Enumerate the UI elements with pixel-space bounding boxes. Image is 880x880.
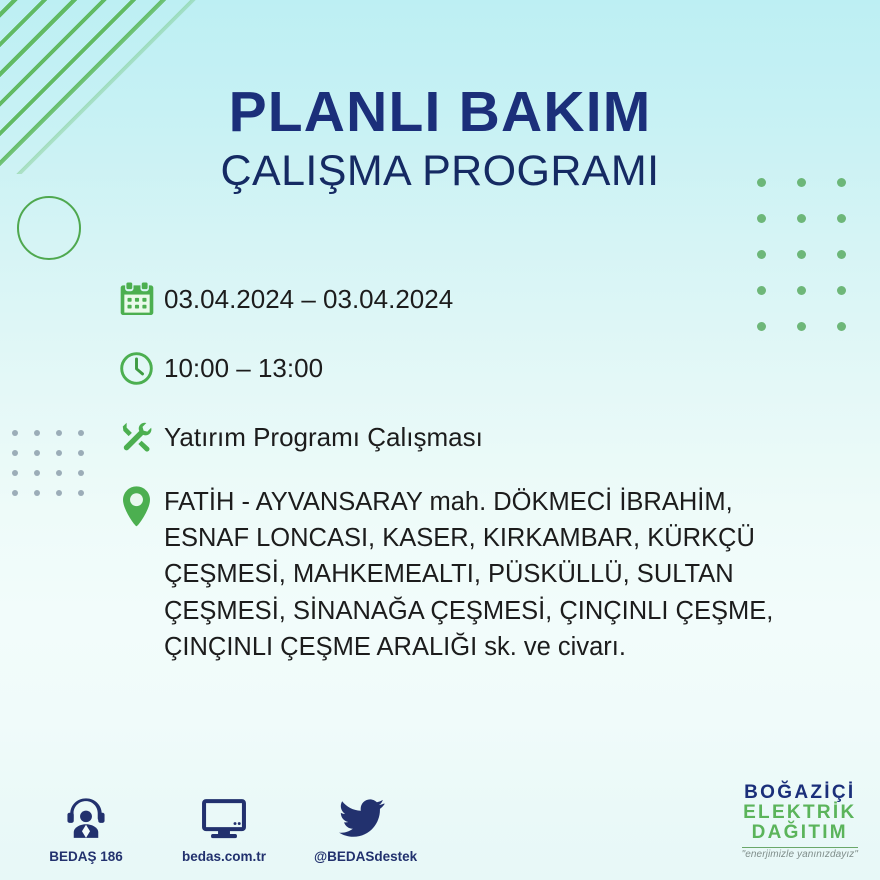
contact-twitter[interactable]: @BEDASdestek: [314, 796, 410, 864]
date-row: 03.04.2024 – 03.04.2024: [118, 276, 848, 322]
page-title: PLANLI BAKIM ÇALIŞMA PROGRAMI: [0, 84, 880, 193]
contact-website[interactable]: bedas.com.tr: [176, 796, 272, 864]
logo-line-elektrik: ELEKTRİK: [742, 803, 858, 823]
logo-tagline: "enerjimizle yanınızdayız": [742, 850, 858, 860]
time-row: 10:00 – 13:00: [118, 345, 848, 391]
logo-line-dagitim: DAĞITIM: [742, 823, 858, 843]
logo-line-bogazici: BOĞAZİÇİ: [742, 783, 858, 803]
logo-divider: [742, 847, 858, 848]
contact-website-label: bedas.com.tr: [176, 849, 272, 864]
calendar-icon: [118, 276, 164, 322]
support-agent-icon: [38, 796, 134, 840]
location-pin-icon: [118, 483, 164, 531]
clock-icon: [118, 345, 164, 391]
contact-phone-label: BEDAŞ 186: [38, 849, 134, 864]
address-value: FATİH - AYVANSARAY mah. DÖKMECİ İBRAHİM,…: [164, 483, 804, 665]
bedas-logo: BOĞAZİÇİ ELEKTRİK DAĞITIM "enerjimizle y…: [742, 783, 858, 860]
page-title-line1: PLANLI BAKIM: [0, 84, 880, 141]
twitter-bird-icon: [314, 796, 410, 840]
footer-contacts: BEDAŞ 186 bedas.com.tr @BEDASdestek: [38, 796, 410, 864]
contact-phone[interactable]: BEDAŞ 186: [38, 796, 134, 864]
address-row: FATİH - AYVANSARAY mah. DÖKMECİ İBRAHİM,…: [118, 483, 848, 665]
tools-icon: [118, 414, 164, 460]
circle-outline-decoration: [17, 196, 81, 260]
dot-grid-decoration-left: [12, 430, 100, 510]
date-value: 03.04.2024 – 03.04.2024: [164, 276, 453, 317]
monitor-icon: [176, 796, 272, 840]
contact-twitter-label: @BEDASdestek: [314, 849, 410, 864]
page-title-line2: ÇALIŞMA PROGRAMI: [0, 150, 880, 193]
work-type-value: Yatırım Programı Çalışması: [164, 414, 483, 455]
time-value: 10:00 – 13:00: [164, 345, 323, 386]
maintenance-details: 03.04.2024 – 03.04.2024 10:00 – 13:00: [118, 276, 848, 665]
work-type-row: Yatırım Programı Çalışması: [118, 414, 848, 460]
planli-bakim-poster: PLANLI BAKIM ÇALIŞMA PROGRAMI: [0, 0, 880, 880]
